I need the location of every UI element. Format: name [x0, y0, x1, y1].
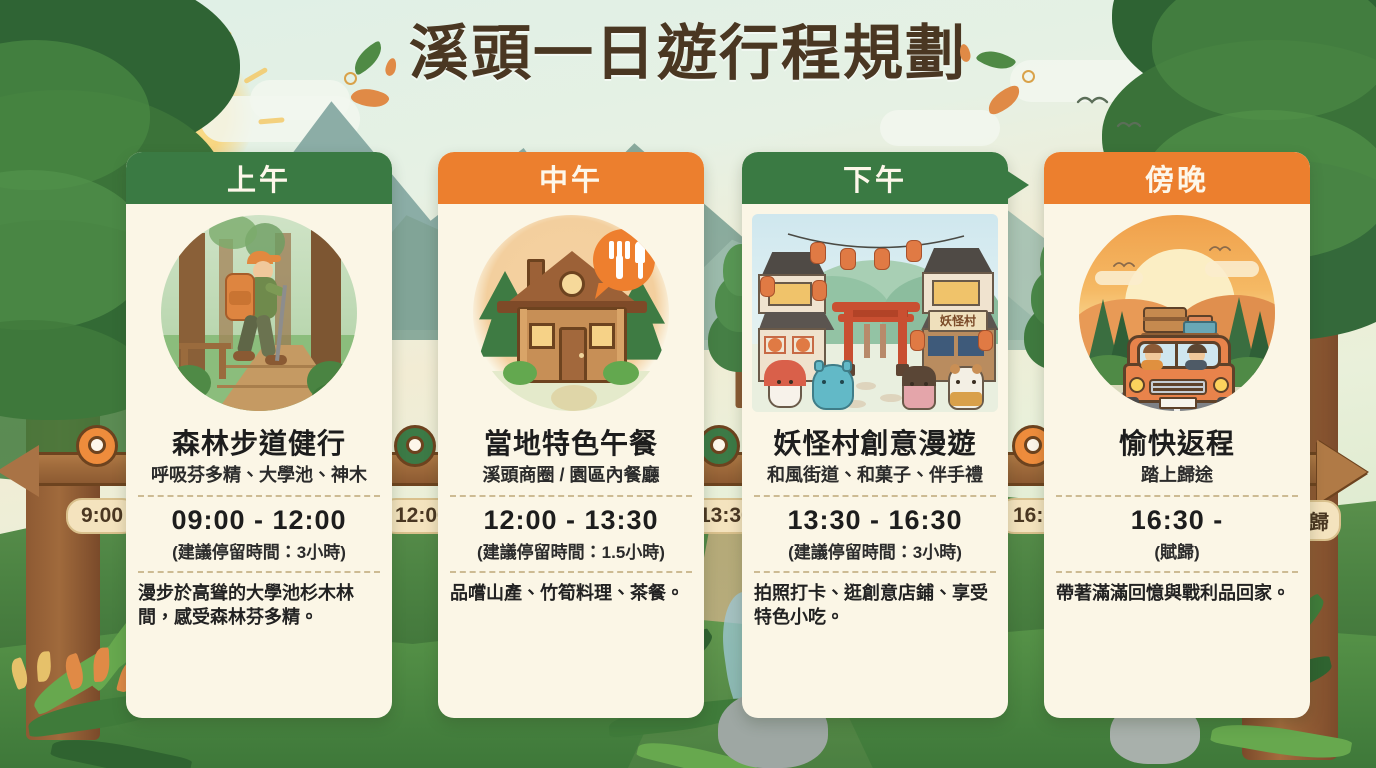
timeline-arrow-icon: [1317, 440, 1367, 504]
page-title: 溪頭一日遊行程規劃: [409, 22, 967, 85]
divider: [450, 571, 692, 573]
header-connector-arrow-icon: [1003, 168, 1029, 202]
card-duration-morning: (建議停留時間：3小時): [136, 538, 382, 563]
card-body-afternoon: 妖怪村創意漫遊 和風街道、和菓子、伴手禮 13:30 - 16:30 (建議停留…: [742, 422, 1008, 637]
card-duration-evening: (賦歸): [1054, 538, 1300, 563]
card-title-afternoon: 妖怪村創意漫遊: [752, 428, 998, 460]
card-time-morning: 09:00 - 12:00: [136, 505, 382, 536]
divider: [754, 495, 996, 497]
card-time-evening: 16:30 -: [1054, 505, 1300, 536]
card-title-evening: 愉快返程: [1054, 428, 1300, 460]
card-body-morning: 森林步道健行 呼吸芬多精、大學池、神木 09:00 - 12:00 (建議停留時…: [126, 422, 392, 637]
card-title-noon: 當地特色午餐: [448, 428, 694, 460]
card-header-morning: 上午: [126, 152, 392, 204]
itinerary-card-morning[interactable]: 上午: [126, 152, 392, 718]
car-sunset-road-icon: [1079, 215, 1275, 411]
divider: [138, 495, 380, 497]
infographic-canvas: 溪頭一日遊行程規劃 9:00 12:00 13:30 16:30 賦歸: [0, 0, 1376, 768]
bird-icon: [1116, 118, 1142, 130]
divider: [1056, 571, 1298, 573]
timeline-pin-1[interactable]: [76, 425, 118, 481]
divider: [754, 571, 996, 573]
dot-decoration-icon: [1022, 70, 1035, 83]
divider: [138, 571, 380, 573]
forest-hiker-icon: [161, 215, 357, 411]
divider: [450, 495, 692, 497]
cloud-4: [880, 110, 1000, 146]
timeline-pin-2[interactable]: [394, 425, 436, 481]
card-subtitle-evening: 踏上歸途: [1054, 464, 1300, 487]
card-subtitle-noon: 溪頭商圈 / 園區內餐廳: [448, 464, 694, 487]
timeline-beam-tail: [0, 445, 39, 497]
card-description-morning: 漫步於高聳的大學池杉木林間，感受森林芬多精。: [136, 581, 382, 630]
itinerary-card-evening[interactable]: 傍晚: [1044, 152, 1310, 718]
card-description-noon: 品嚐山產、竹筍料理、茶餐。: [448, 581, 694, 605]
card-description-evening: 帶著滿滿回憶與戰利品回家。: [1054, 581, 1300, 605]
bird-icon: [1076, 92, 1110, 108]
card-body-evening: 愉快返程 踏上歸途 16:30 - (賦歸) 帶著滿滿回憶與戰利品回家。: [1044, 422, 1310, 613]
card-title-morning: 森林步道健行: [136, 428, 382, 460]
card-subtitle-afternoon: 和風街道、和菓子、伴手禮: [752, 464, 998, 487]
card-duration-noon: (建議停留時間：1.5小時): [448, 538, 694, 563]
card-header-afternoon: 下午: [742, 152, 1008, 204]
timeline-pin-3[interactable]: [698, 425, 740, 481]
card-illustration-morning: [126, 204, 392, 422]
card-header-evening: 傍晚: [1044, 152, 1310, 204]
card-illustration-evening: [1044, 204, 1310, 422]
card-body-noon: 當地特色午餐 溪頭商圈 / 園區內餐廳 12:00 - 13:30 (建議停留時…: [438, 422, 704, 613]
dot-decoration-icon: [344, 72, 357, 85]
card-illustration-noon: [438, 204, 704, 422]
card-subtitle-morning: 呼吸芬多精、大學池、神木: [136, 464, 382, 487]
divider: [1056, 495, 1298, 497]
card-time-noon: 12:00 - 13:30: [448, 505, 694, 536]
card-duration-afternoon: (建議停留時間：3小時): [752, 538, 998, 563]
log-cabin-restaurant-icon: [473, 215, 669, 411]
card-description-afternoon: 拍照打卡、逛創意店鋪、享受特色小吃。: [752, 581, 998, 630]
itinerary-card-afternoon[interactable]: 下午: [742, 152, 1008, 718]
card-illustration-afternoon: 妖怪村: [742, 204, 1008, 422]
card-header-noon: 中午: [438, 152, 704, 204]
page-title-wrap: 溪頭一日遊行程規劃: [0, 22, 1376, 85]
monster-village-torii-icon: 妖怪村: [752, 214, 998, 412]
card-time-afternoon: 13:30 - 16:30: [752, 505, 998, 536]
village-sign-text: 妖怪村: [928, 311, 988, 331]
itinerary-card-noon[interactable]: 中午: [438, 152, 704, 718]
